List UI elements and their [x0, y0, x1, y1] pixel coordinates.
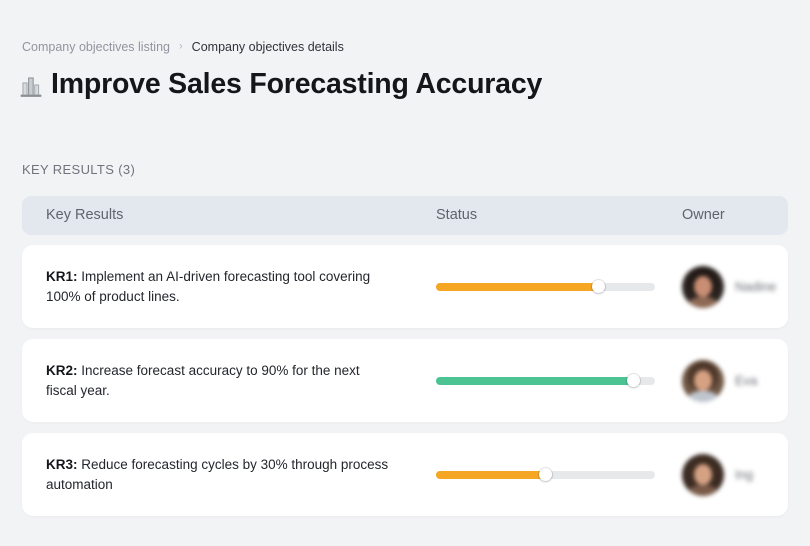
objective-details-page: Company objectives listing › Company obj… — [0, 0, 810, 546]
key-result-tag: KR1: — [46, 269, 78, 284]
key-result-tag: KR3: — [46, 457, 78, 472]
key-result-tag: KR2: — [46, 363, 78, 378]
key-result-description: Increase forecast accuracy to 90% for th… — [46, 363, 360, 398]
breadcrumb-link-listing[interactable]: Company objectives listing — [22, 39, 170, 55]
progress-handle[interactable] — [627, 374, 640, 387]
owner-cell: Ing — [655, 454, 788, 496]
progress-handle[interactable] — [539, 468, 552, 481]
breadcrumb-current-details: Company objectives details — [192, 39, 344, 55]
key-result-text: KR2: Increase forecast accuracy to 90% f… — [46, 361, 412, 401]
key-result-text: KR3: Reduce forecasting cycles by 30% th… — [46, 455, 412, 495]
key-results-table: Key Results Status Owner KR1: Implement … — [22, 196, 788, 527]
progress-slider[interactable] — [436, 283, 655, 291]
owner-cell: Nadine — [655, 266, 788, 308]
owner-cell: Eva — [655, 360, 788, 402]
column-header-status: Status — [412, 206, 655, 225]
breadcrumb: Company objectives listing › Company obj… — [22, 39, 344, 55]
page-header: Improve Sales Forecasting Accuracy — [20, 66, 542, 102]
table-row[interactable]: KR1: Implement an AI-driven forecasting … — [22, 245, 788, 328]
key-results-section-label: KEY RESULTS (3) — [22, 161, 135, 178]
progress-slider[interactable] — [436, 471, 655, 479]
key-result-description: Implement an AI-driven forecasting tool … — [46, 269, 370, 304]
status-cell — [412, 471, 655, 479]
table-header-row: Key Results Status Owner — [22, 196, 788, 235]
page-title: Improve Sales Forecasting Accuracy — [51, 66, 542, 102]
avatar — [682, 360, 724, 402]
progress-fill — [436, 283, 598, 291]
avatar — [682, 266, 724, 308]
table-row[interactable]: KR3: Reduce forecasting cycles by 30% th… — [22, 433, 788, 516]
column-header-key-results: Key Results — [46, 206, 412, 225]
progress-fill — [436, 471, 546, 479]
key-result-text: KR1: Implement an AI-driven forecasting … — [46, 267, 412, 307]
progress-handle[interactable] — [592, 280, 605, 293]
chevron-right-icon: › — [179, 39, 183, 55]
office-building-icon — [20, 74, 42, 98]
status-cell — [412, 377, 655, 385]
column-header-owner: Owner — [655, 206, 788, 225]
key-result-description: Reduce forecasting cycles by 30% through… — [46, 457, 388, 492]
avatar — [682, 454, 724, 496]
owner-name: Nadine — [735, 278, 776, 296]
table-row[interactable]: KR2: Increase forecast accuracy to 90% f… — [22, 339, 788, 422]
table-body: KR1: Implement an AI-driven forecasting … — [22, 245, 788, 516]
progress-fill — [436, 377, 633, 385]
owner-name: Eva — [735, 372, 757, 390]
owner-name: Ing — [735, 466, 753, 484]
progress-slider[interactable] — [436, 377, 655, 385]
status-cell — [412, 283, 655, 291]
